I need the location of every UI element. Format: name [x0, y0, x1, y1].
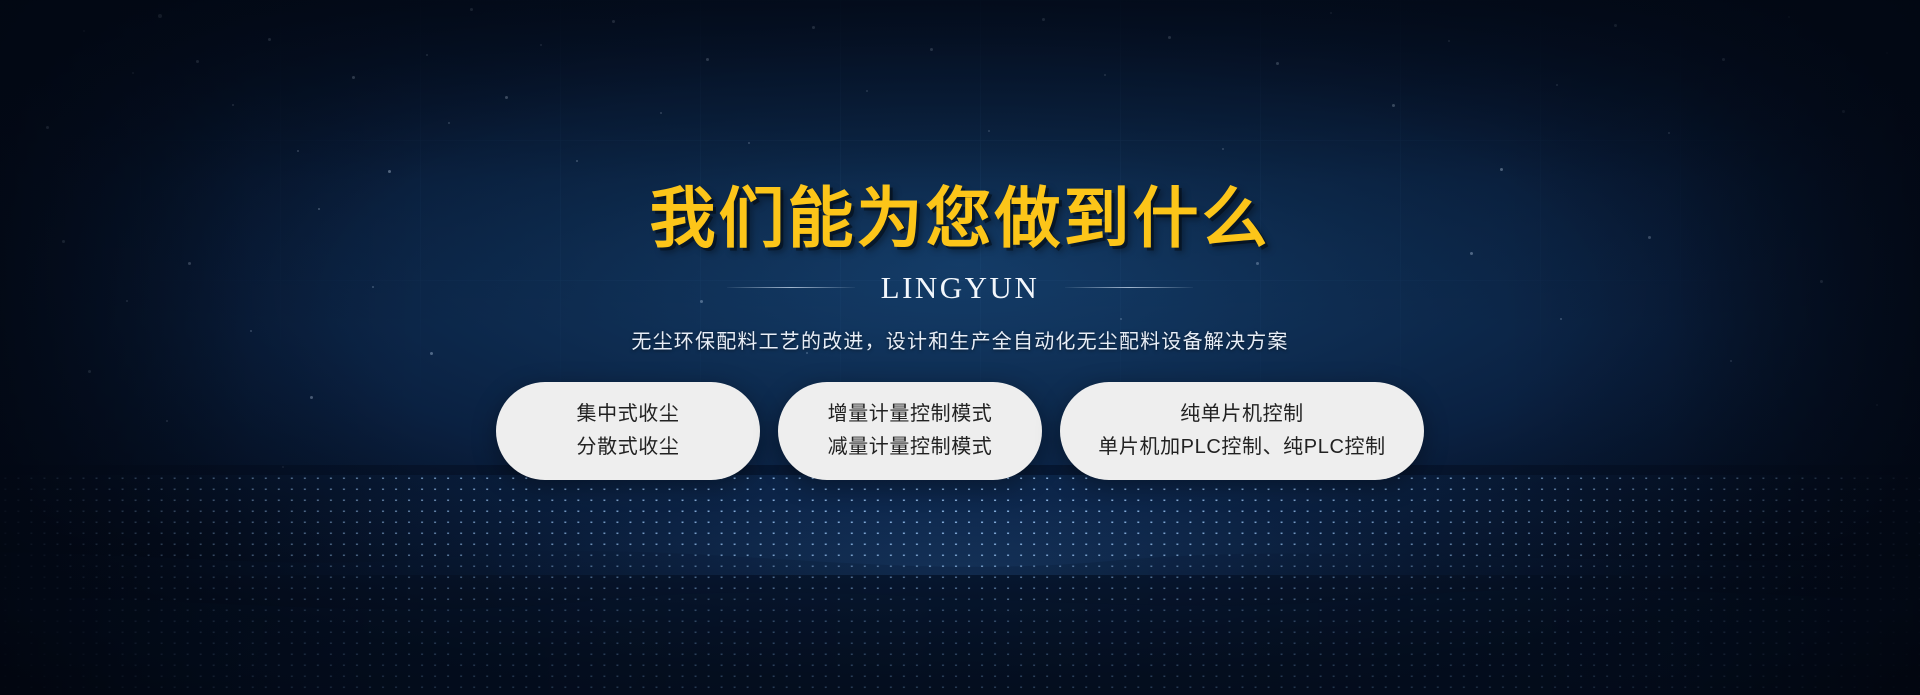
feature-card-line-1: 纯单片机控制 [1094, 404, 1390, 424]
feature-card-line-2: 分散式收尘 [530, 437, 726, 457]
brand-subtitle-row: LINGYUN [0, 270, 1920, 306]
hero-description: 无尘环保配料工艺的改进，设计和生产全自动化无尘配料设备解决方案 [0, 325, 1920, 354]
hero-content: 我们能为您做到什么 LINGYUN 无尘环保配料工艺的改进，设计和生产全自动化无… [0, 0, 1920, 480]
feature-card-metering-mode[interactable]: 增量计量控制模式 减量计量控制模式 [778, 382, 1042, 480]
digital-landscape-grid [0, 465, 1920, 695]
feature-card-line-1: 增量计量控制模式 [812, 404, 1008, 424]
feature-card-line-2: 单片机加PLC控制、纯PLC控制 [1094, 437, 1390, 457]
divider-left [727, 287, 855, 288]
hero-banner: 我们能为您做到什么 LINGYUN 无尘环保配料工艺的改进，设计和生产全自动化无… [0, 0, 1920, 695]
feature-card-line-1: 集中式收尘 [530, 404, 726, 424]
feature-card-control-system[interactable]: 纯单片机控制 单片机加PLC控制、纯PLC控制 [1060, 382, 1424, 480]
feature-card-line-2: 减量计量控制模式 [812, 437, 1008, 457]
feature-card-list: 集中式收尘 分散式收尘 增量计量控制模式 减量计量控制模式 纯单片机控制 单片机… [0, 382, 1920, 480]
divider-right [1065, 287, 1193, 288]
page-title: 我们能为您做到什么 [0, 0, 1920, 256]
feature-card-dust-collection[interactable]: 集中式收尘 分散式收尘 [496, 382, 760, 480]
brand-latin-name: LINGYUN [881, 270, 1040, 306]
